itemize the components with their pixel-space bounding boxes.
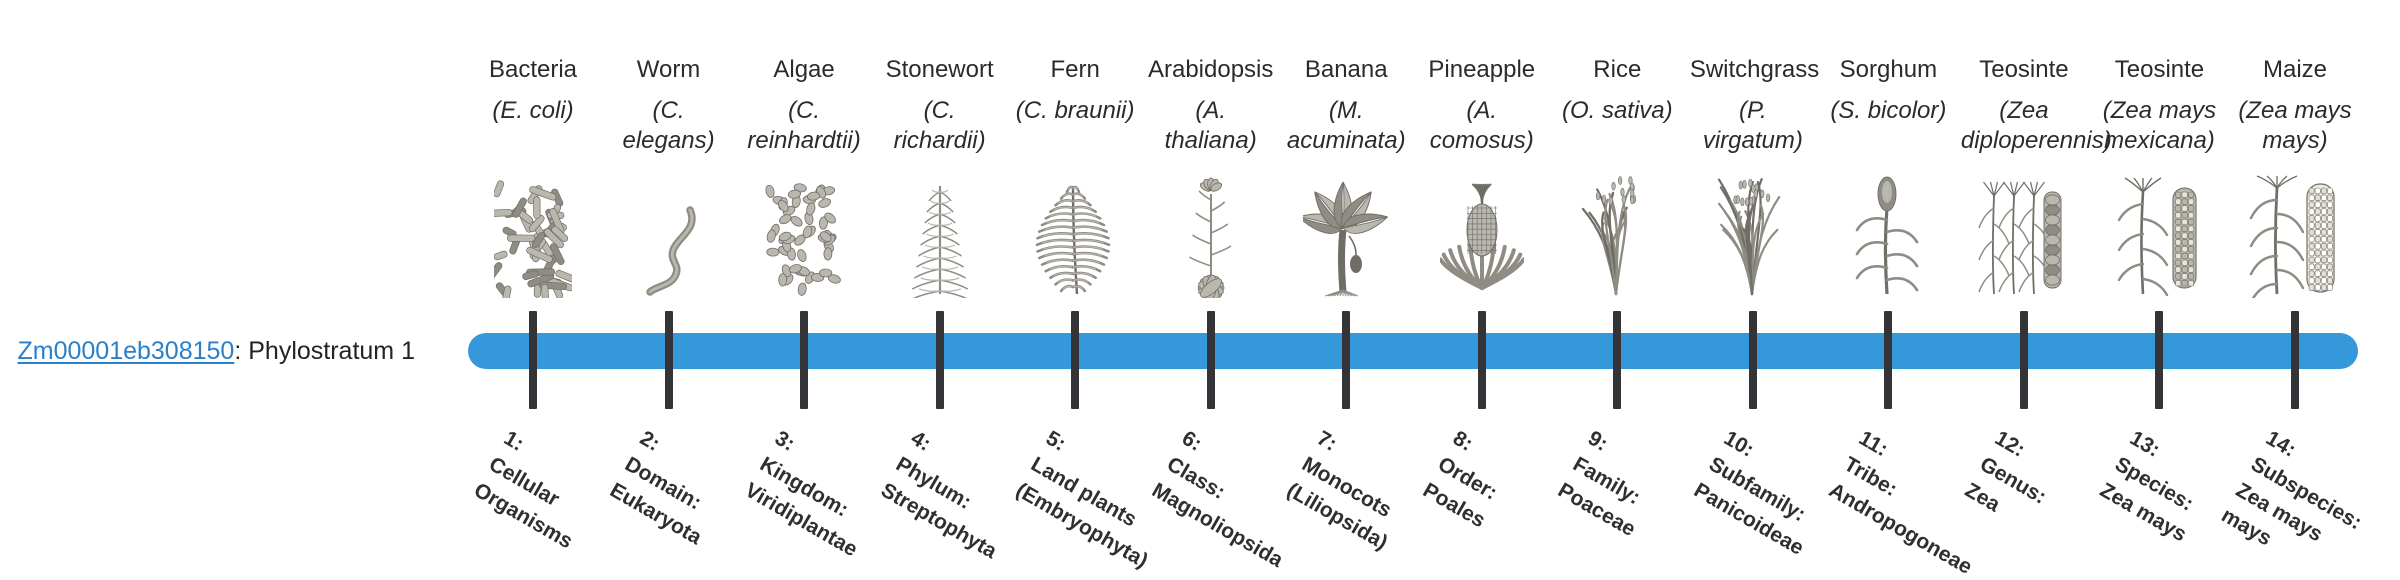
gene-id-link[interactable]: Zm00001eb308150 <box>17 337 234 365</box>
phylostratum-timeline-bar[interactable] <box>468 333 2358 369</box>
species-scientific-name: (A. comosus) <box>1419 96 1545 157</box>
phylostratum-suffix: : Phylostratum 1 <box>234 337 415 365</box>
stratum-label-9[interactable]: 9: Family: Poaceae <box>1553 424 1672 544</box>
species-header-worm-2: Worm(C. elegans) <box>606 55 732 157</box>
species-header-switchgrass-10: Switchgrass(P. virgatum) <box>1690 55 1816 157</box>
species-common-name: Banana <box>1283 55 1409 86</box>
fern-frond-illustration <box>1015 168 1135 298</box>
species-scientific-name: (C. richardii) <box>877 96 1003 157</box>
species-scientific-name: (Zea diploperennis) <box>1961 96 2087 157</box>
phylostratigraphy-figure: Zm00001eb308150: Phylostratum 1 Bacteria… <box>0 0 2400 580</box>
timeline-tick-3[interactable] <box>800 311 808 409</box>
species-scientific-name: (O. sativa) <box>1554 96 1680 127</box>
species-common-name: Arabidopsis <box>1148 55 1274 86</box>
sorghum-plant-illustration <box>1828 168 1948 298</box>
species-common-name: Stonewort <box>877 55 1003 86</box>
species-common-name: Switchgrass <box>1690 55 1816 86</box>
species-common-name: Algae <box>741 55 867 86</box>
species-header-banana-7: Banana(M. acuminata) <box>1283 55 1409 157</box>
species-header-arabidopsis-6: Arabidopsis(A. thaliana) <box>1148 55 1274 157</box>
stratum-label-1[interactable]: 1: Cellular Organisms <box>468 424 608 556</box>
species-header-pineapple-8: Pineapple(A. comosus) <box>1419 55 1545 157</box>
species-header-bacteria-1: Bacteria(E. coli) <box>470 55 596 126</box>
switchgrass-illustration <box>1693 168 1813 298</box>
species-common-name: Rice <box>1554 55 1680 86</box>
species-header-algae-3: Algae(C. reinhardtii) <box>741 55 867 157</box>
timeline-tick-4[interactable] <box>936 311 944 409</box>
species-header-teosinte-13: Teosinte(Zea mays mexicana) <box>2096 55 2222 157</box>
arabidopsis-rosette-illustration <box>1151 168 1271 298</box>
species-header-stonewort-4: Stonewort(C. richardii) <box>877 55 1003 157</box>
species-scientific-name: (Zea mays mexicana) <box>2096 96 2222 157</box>
pineapple-plant-illustration <box>1422 168 1542 298</box>
species-common-name: Worm <box>606 55 732 86</box>
timeline-tick-7[interactable] <box>1342 311 1350 409</box>
banana-plant-illustration <box>1286 168 1406 298</box>
species-common-name: Teosinte <box>1961 55 2087 86</box>
species-scientific-name: (C. reinhardtii) <box>741 96 867 157</box>
species-header-teosinte-12: Teosinte(Zea diploperennis) <box>1961 55 2087 157</box>
stratum-label-8[interactable]: 8: Order: Poales <box>1417 424 1520 535</box>
timeline-tick-9[interactable] <box>1613 311 1621 409</box>
species-scientific-name: (P. virgatum) <box>1690 96 1816 157</box>
timeline-tick-13[interactable] <box>2155 311 2163 409</box>
bacteria-rods-illustration <box>473 168 593 298</box>
timeline-tick-8[interactable] <box>1478 311 1486 409</box>
rice-plant-illustration <box>1557 168 1677 298</box>
nematode-worm-illustration <box>609 168 729 298</box>
timeline-tick-1[interactable] <box>529 311 537 409</box>
species-common-name: Teosinte <box>2096 55 2222 86</box>
species-common-name: Maize <box>2232 55 2358 86</box>
teosinte-diploperennis-illustration <box>1964 168 2084 298</box>
species-scientific-name: (S. bicolor) <box>1825 96 1951 127</box>
stratum-label-4[interactable]: 4: Phylum: Streptophyta <box>875 424 1032 566</box>
phylostratum-value: Phylostratum 1 <box>248 337 415 365</box>
stratum-label-2[interactable]: 2: Domain: Eukaryota <box>604 424 737 552</box>
timeline-tick-14[interactable] <box>2291 311 2299 409</box>
stratum-label-3[interactable]: 3: Kingdom: Viridiplantae <box>739 424 893 564</box>
species-common-name: Fern <box>1012 55 1138 86</box>
species-scientific-name: (Zea mays mays) <box>2232 96 2358 157</box>
stonewort-illustration <box>880 168 1000 298</box>
algae-cells-illustration <box>744 168 864 298</box>
gene-phylostratum-label: Zm00001eb308150: Phylostratum 1 <box>0 336 415 366</box>
species-scientific-name: (E. coli) <box>470 96 596 127</box>
species-header-fern-5: Fern(C. braunii) <box>1012 55 1138 126</box>
species-scientific-name: (M. acuminata) <box>1283 96 1409 157</box>
timeline-tick-5[interactable] <box>1071 311 1079 409</box>
species-header-rice-9: Rice(O. sativa) <box>1554 55 1680 126</box>
stratum-label-14[interactable]: 14: Subspecies: Zea mays mays <box>2215 424 2382 580</box>
species-common-name: Pineapple <box>1419 55 1545 86</box>
timeline-tick-11[interactable] <box>1884 311 1892 409</box>
timeline-tick-12[interactable] <box>2020 311 2028 409</box>
timeline-tick-10[interactable] <box>1749 311 1757 409</box>
timeline-tick-2[interactable] <box>665 311 673 409</box>
species-scientific-name: (C. braunii) <box>1012 96 1138 127</box>
maize-plant-and-cob-illustration <box>2235 168 2355 298</box>
species-header-maize-14: Maize(Zea mays mays) <box>2232 55 2358 157</box>
stratum-label-10[interactable]: 10: Subfamily: Panicoideae <box>1688 424 1839 563</box>
species-common-name: Sorghum <box>1825 55 1951 86</box>
species-scientific-name: (A. thaliana) <box>1148 96 1274 157</box>
stratum-label-7[interactable]: 7: Monocots (Liliopsida) <box>1282 424 1424 557</box>
species-header-sorghum-11: Sorghum(S. bicolor) <box>1825 55 1951 126</box>
stratum-label-13[interactable]: 13: Species: Zea mays <box>2095 424 2223 549</box>
timeline-tick-6[interactable] <box>1207 311 1215 409</box>
species-common-name: Bacteria <box>470 55 596 86</box>
species-scientific-name: (C. elegans) <box>606 96 732 157</box>
teosinte-mexicana-illustration <box>2099 168 2219 298</box>
